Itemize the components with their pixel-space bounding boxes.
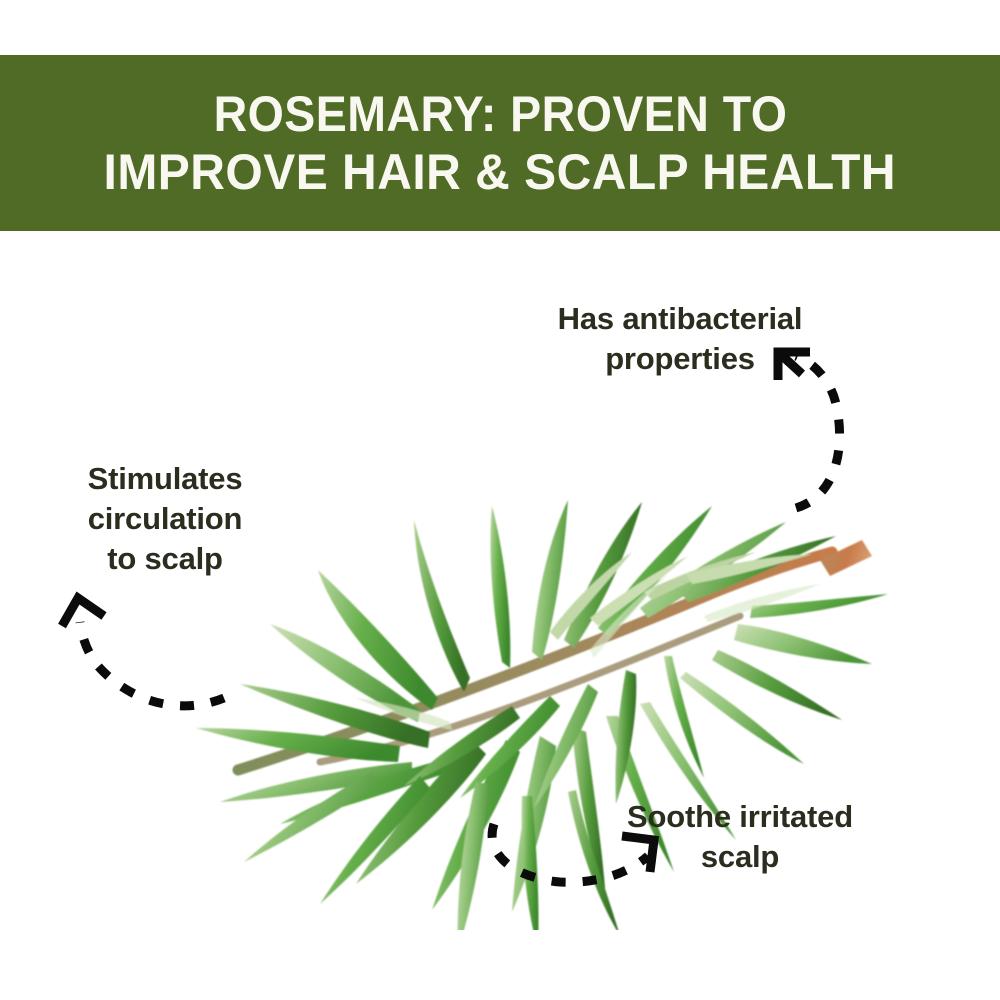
callout-soothe: Soothe irritated scalp [585, 797, 895, 877]
banner-title-line-2: IMPROVE HAIR & SCALP HEALTH [104, 143, 897, 201]
banner-title-line-1: ROSEMARY: PROVEN TO [213, 85, 787, 143]
callout-circulation: Stimulates circulation to scalp [40, 459, 290, 579]
callout-circulation-line-3: to scalp [40, 539, 290, 579]
callout-circulation-line-1: Stimulates [40, 459, 290, 499]
callout-antibacterial: Has antibacterial properties [500, 299, 860, 379]
callout-antibacterial-line-2: properties [500, 339, 860, 379]
callout-soothe-line-2: scalp [585, 837, 895, 877]
stem-cut-tip [820, 540, 872, 576]
callout-soothe-line-1: Soothe irritated [585, 797, 895, 837]
callout-circulation-line-2: circulation [40, 499, 290, 539]
callout-antibacterial-line-1: Has antibacterial [500, 299, 860, 339]
infographic-canvas: ROSEMARY: PROVEN TO IMPROVE HAIR & SCALP… [0, 0, 1000, 1000]
title-banner: ROSEMARY: PROVEN TO IMPROVE HAIR & SCALP… [0, 55, 1000, 231]
